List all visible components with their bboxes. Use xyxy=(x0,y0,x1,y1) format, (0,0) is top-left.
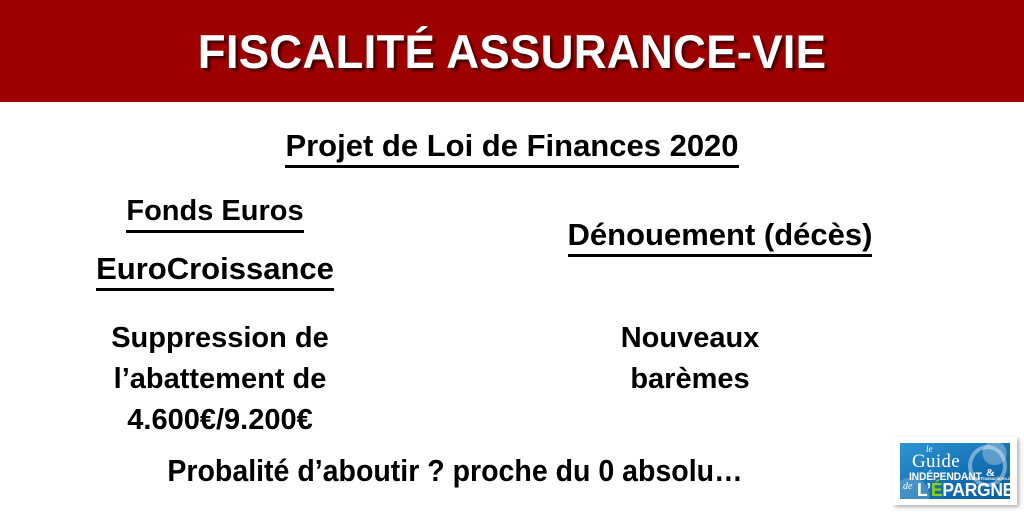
left-column-body-line: Suppression de xyxy=(30,318,410,359)
left-column-body: Suppression de l’abattement de 4.600€/9.… xyxy=(30,318,410,442)
right-column-body-line: barèmes xyxy=(500,359,880,400)
logo-epargne-rest: PARGNE xyxy=(942,480,1010,499)
conclusion-text: Probalité d’aboutir ? proche du 0 absolu… xyxy=(55,455,855,486)
left-column-heading-fonds-euros-text: Fonds Euros xyxy=(126,197,303,233)
subtitle: Projet de Loi de Finances 2020 xyxy=(0,130,1024,168)
page-title: FISCALITÉ ASSURANCE-VIE xyxy=(15,0,1008,102)
left-column-heading-eurocroissance: EuroCroissance xyxy=(0,253,430,291)
slide-canvas: FISCALITÉ ASSURANCE-VIE Projet de Loi de… xyxy=(0,0,1024,512)
left-column-body-line: l’abattement de xyxy=(30,359,410,400)
logo-guide-independant-epargne[interactable]: le Guide INDÉPENDANT FranceTransactions.… xyxy=(893,437,1017,505)
logo-epargne-text: L’ÉPARGNE xyxy=(917,480,1010,499)
logo-ampersand-icon: & xyxy=(986,467,995,479)
logo-background: le Guide INDÉPENDANT FranceTransactions.… xyxy=(900,443,1010,499)
right-column-body: Nouveaux barèmes xyxy=(500,318,880,400)
header-banner: FISCALITÉ ASSURANCE-VIE xyxy=(0,0,1024,102)
left-column-heading-eurocroissance-text: EuroCroissance xyxy=(96,253,334,291)
subtitle-text: Projet de Loi de Finances 2020 xyxy=(285,130,738,168)
right-column-body-line: Nouveaux xyxy=(500,318,880,359)
logo-guide-text: Guide xyxy=(912,451,960,473)
left-column-heading-fonds-euros: Fonds Euros xyxy=(0,197,430,233)
logo-de-text: de xyxy=(903,481,912,492)
right-column-heading-denouement: Dénouement (décès) xyxy=(440,219,1000,257)
logo-epargne-accent: É xyxy=(931,480,942,499)
right-column-heading-denouement-text: Dénouement (décès) xyxy=(568,219,873,257)
left-column-body-line: 4.600€/9.200€ xyxy=(30,400,410,441)
logo-epargne-prefix: L’ xyxy=(917,480,931,499)
